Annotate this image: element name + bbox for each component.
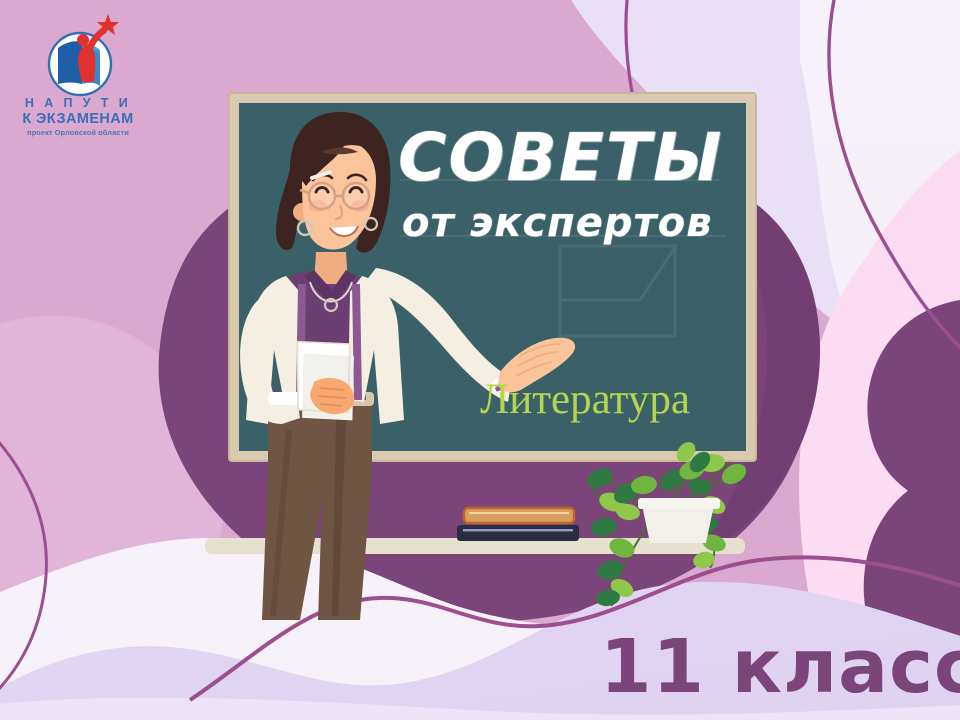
plant-pot [642, 505, 714, 543]
logo-text-line2: К ЭКЗАМЕНАМ [14, 111, 142, 127]
project-logo[interactable]: Н А П У Т И К ЭКЗАМЕНАМ проект Орловской… [14, 12, 142, 142]
chalkboard-subtitle: от экспертов [402, 196, 732, 250]
teacher-trousers [262, 400, 372, 620]
classroom-illustration [0, 0, 960, 720]
poster-canvas: Н А П У Т И К ЭКЗАМЕНАМ проект Орловской… [0, 0, 960, 720]
logo-text-line1: Н А П У Т И [14, 96, 142, 110]
book-top [464, 508, 574, 523]
grade-label: 11 класс [600, 624, 940, 710]
logo-subtitle: проект Орловской области [14, 128, 142, 137]
chalkboard-title: СОВЕТЫ [398, 116, 728, 200]
subject-label: Литература [420, 374, 750, 426]
plant-pot-rim [638, 498, 720, 509]
stacked-books [457, 508, 579, 541]
book-top-pages [469, 512, 569, 514]
potted-trailing-plant [584, 438, 749, 607]
book-bottom [457, 525, 579, 541]
logo-emblem-icon [38, 12, 122, 98]
logo-figure-head [77, 34, 89, 46]
book-bottom-stripe [463, 529, 573, 531]
